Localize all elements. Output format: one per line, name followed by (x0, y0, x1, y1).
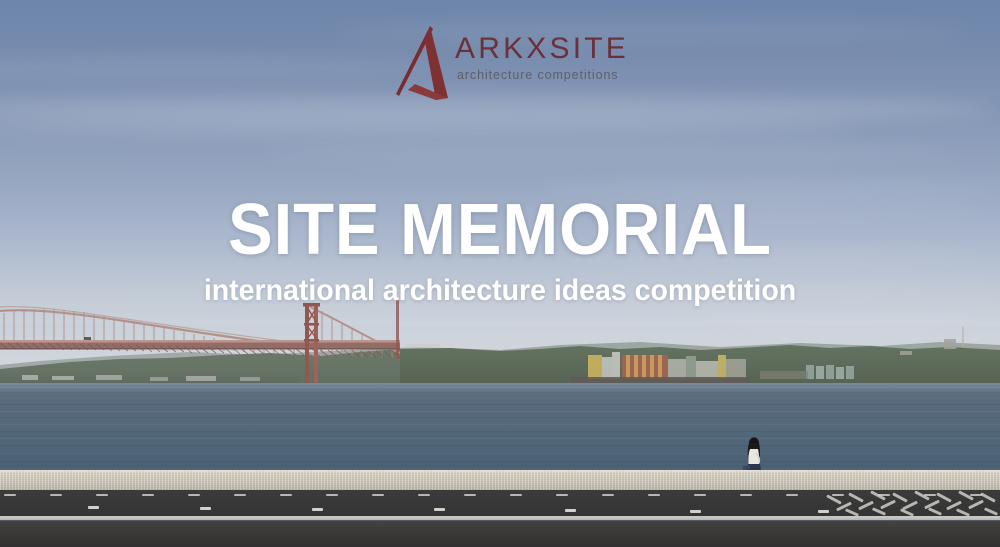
brand-logo[interactable]: ARKXSITE architecture competitions (392, 24, 622, 100)
poster-canvas: ARKXSITE architecture competitions SITE … (0, 0, 1000, 547)
person-sitting-on-quay (734, 434, 774, 472)
arkxsite-a-mark-icon (392, 24, 454, 100)
brand-tagline: architecture competitions (457, 68, 618, 82)
person-svg (734, 434, 774, 472)
river-water (0, 383, 1000, 473)
road-lower-lane (0, 521, 1000, 547)
cloud-wisp (260, 146, 960, 160)
quay-wall (0, 470, 1000, 490)
page-subtitle: international architecture ideas competi… (25, 276, 975, 306)
water-horizon-sheen (0, 383, 1000, 395)
quay-wall-texture (0, 470, 1000, 490)
a-mark-right-wedge (425, 26, 448, 100)
cloud-wisp (0, 60, 440, 76)
page-title: SITE MEMORIAL (35, 194, 965, 266)
brand-wordmark: ARKXSITE (455, 32, 629, 66)
cloud-wisp (0, 118, 860, 136)
